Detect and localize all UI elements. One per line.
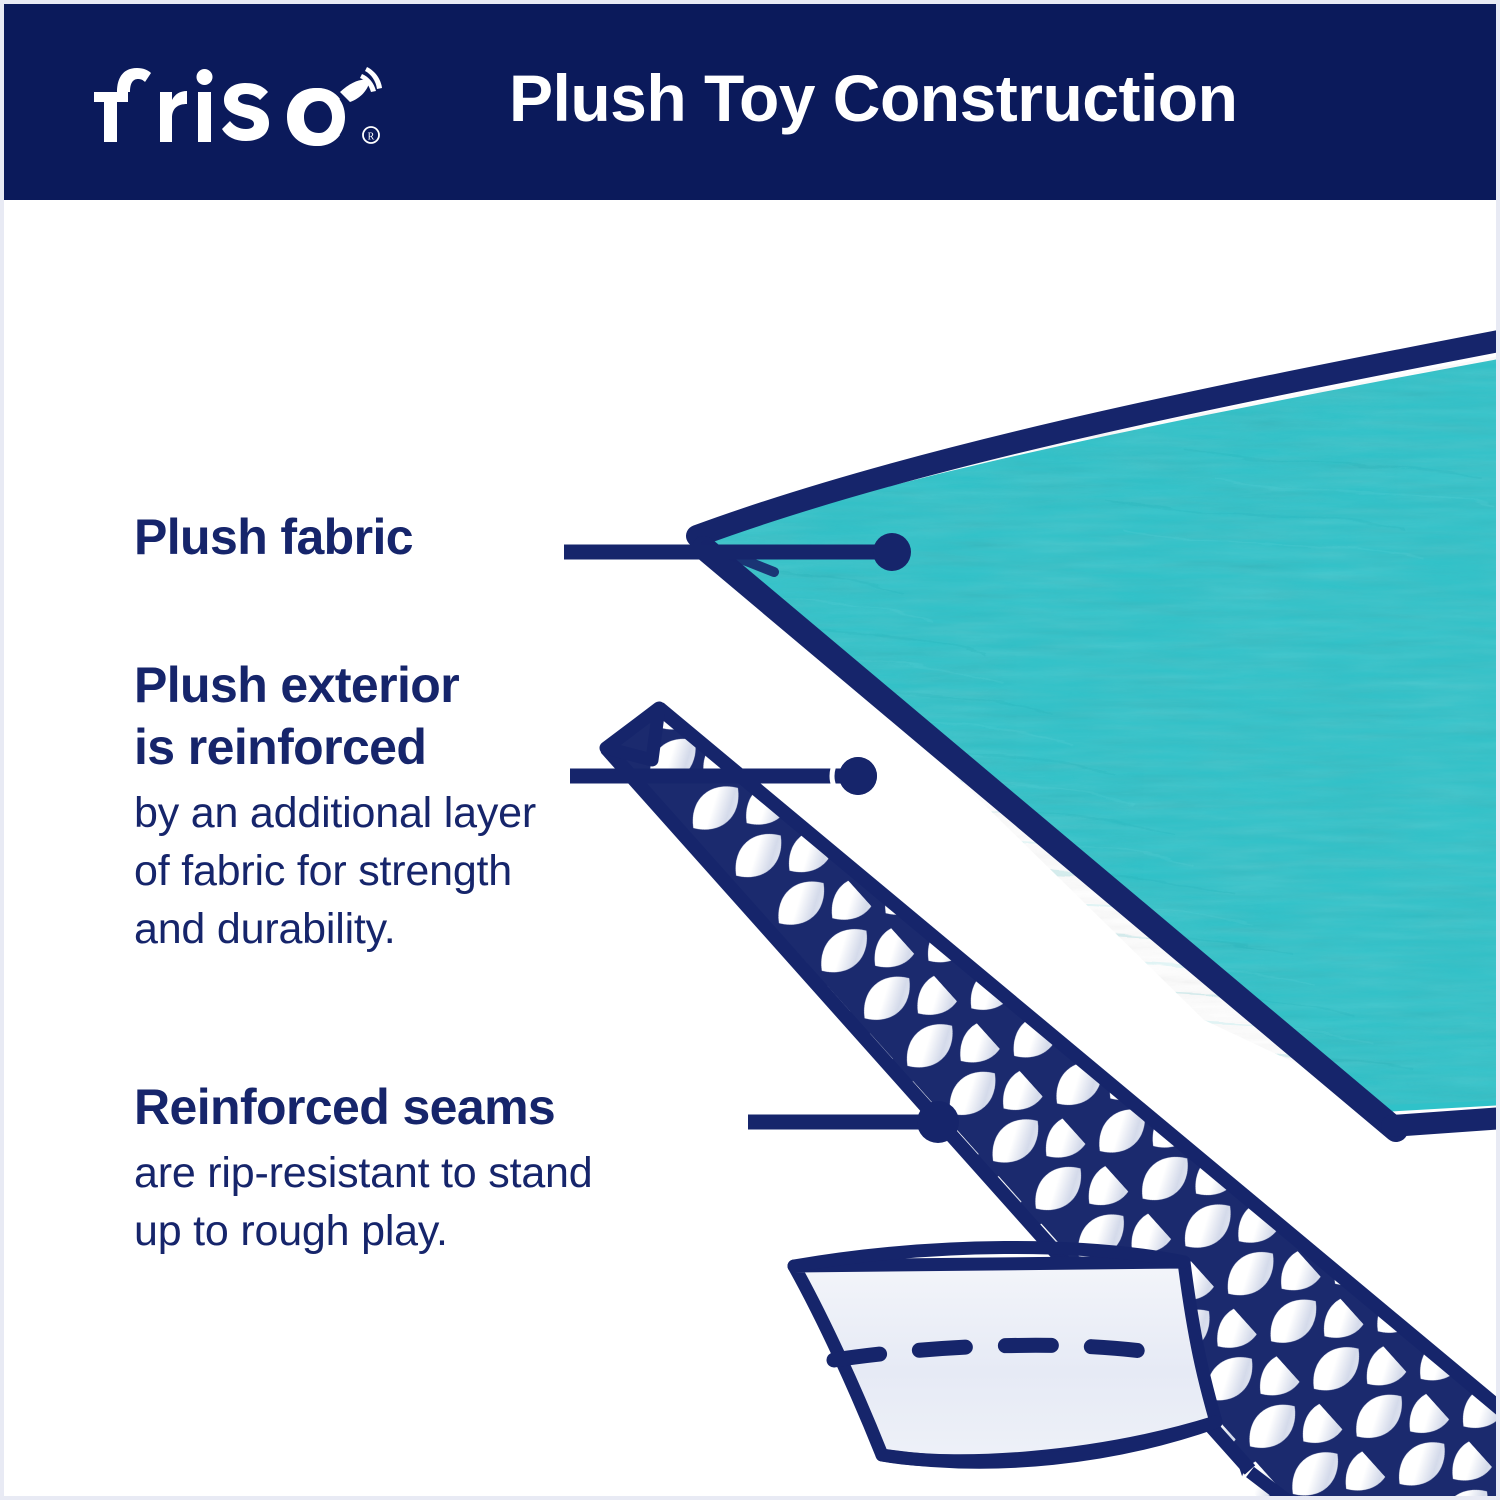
page-title: Plush Toy Construction: [509, 48, 1409, 148]
header-bar: R Plush Toy Construction: [4, 4, 1500, 200]
callout-heading: Reinforced seams: [134, 1076, 794, 1138]
callout-heading: Plush fabric: [134, 506, 564, 568]
registered-trademark-icon: R: [363, 127, 379, 143]
callout-body: are rip-resistant to stand up to rough p…: [134, 1144, 794, 1260]
callout-heading: Plush exterior is reinforced: [134, 654, 714, 778]
infographic-page: R Plush Toy Construction: [0, 0, 1500, 1500]
callout-body: by an additional layer of fabric for str…: [134, 784, 714, 958]
callout-plush-exterior-reinforced: Plush exterior is reinforced by an addit…: [134, 654, 714, 958]
callout-reinforced-seams: Reinforced seams are rip-resistant to st…: [134, 1076, 794, 1260]
svg-text:R: R: [368, 132, 375, 143]
reinforced-seam-flap: [794, 1247, 1216, 1462]
frisco-logo: R: [86, 52, 386, 148]
callout-plush-fabric: Plush fabric: [134, 506, 564, 568]
plush-fabric-panel: [644, 340, 1500, 1140]
